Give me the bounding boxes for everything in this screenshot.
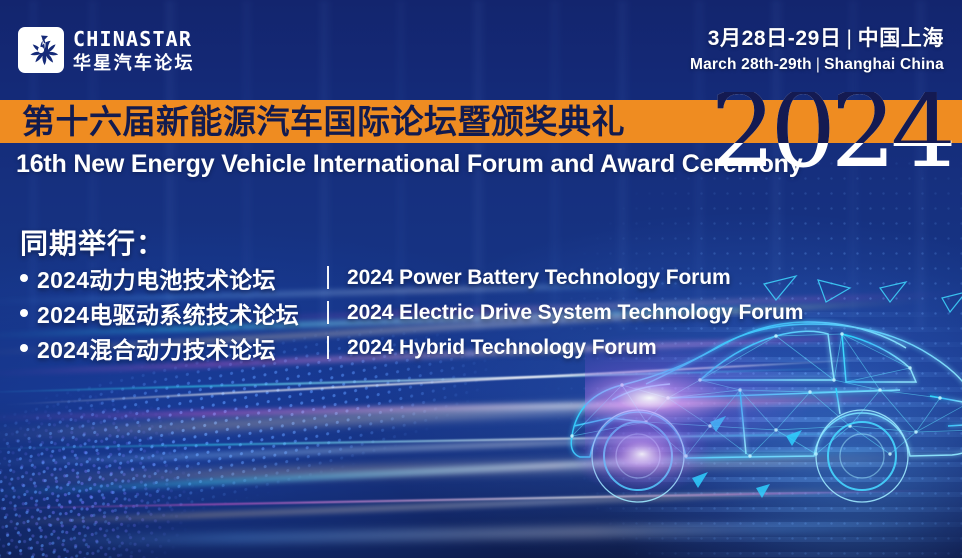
speed-streak bbox=[0, 429, 859, 467]
star-burst-logo-icon bbox=[18, 27, 64, 73]
date-separator-cn: | bbox=[842, 27, 858, 50]
bullet-icon bbox=[20, 344, 28, 352]
forum-title-cn: 2024电驱动系统技术论坛 bbox=[37, 296, 327, 330]
event-title-en: 16th New Energy Vehicle International Fo… bbox=[0, 150, 802, 179]
speed-streak bbox=[0, 445, 919, 497]
divider bbox=[327, 301, 329, 324]
speed-streak bbox=[0, 367, 860, 394]
banner-header: CHINASTAR 华星汽车论坛 3月28日-29日|中国上海 March 28… bbox=[0, 0, 962, 100]
forum-title-en: 2024 Power Battery Technology Forum bbox=[347, 266, 731, 290]
brand-logo[interactable]: CHINASTAR 华星汽车论坛 bbox=[18, 27, 195, 73]
date-en: March 28th-29th bbox=[690, 56, 812, 73]
list-item[interactable]: 2024动力电池技术论坛 2024 Power Battery Technolo… bbox=[20, 262, 803, 293]
forum-list: 2024动力电池技术论坛 2024 Power Battery Technolo… bbox=[20, 262, 803, 367]
concurrent-events-heading: 同期举行： bbox=[20, 222, 165, 262]
divider bbox=[327, 336, 329, 359]
forum-title-en: 2024 Hybrid Technology Forum bbox=[347, 336, 657, 360]
speed-streak bbox=[0, 395, 940, 421]
speed-streak bbox=[0, 489, 950, 510]
list-item[interactable]: 2024电驱动系统技术论坛 2024 Electric Drive System… bbox=[20, 297, 803, 328]
location-en: Shanghai China bbox=[824, 56, 944, 73]
forum-title-en: 2024 Electric Drive System Technology Fo… bbox=[347, 301, 803, 325]
event-title-cn: 第十六届新能源汽车国际论坛暨颁奖典礼 bbox=[0, 100, 625, 143]
bullet-icon bbox=[20, 309, 28, 317]
forum-title-cn: 2024动力电池技术论坛 bbox=[37, 261, 327, 295]
event-date-location: 3月28日-29日|中国上海 March 28th-29th|Shanghai … bbox=[690, 28, 948, 73]
location-cn: 中国上海 bbox=[858, 27, 944, 50]
title-orange-band: 第十六届新能源汽车国际论坛暨颁奖典礼 bbox=[0, 100, 962, 143]
date-separator-en: | bbox=[812, 56, 824, 73]
speed-streak bbox=[0, 432, 910, 450]
forum-title-cn: 2024混合动力技术论坛 bbox=[37, 331, 327, 365]
speed-streak bbox=[0, 452, 960, 485]
bullet-icon bbox=[20, 274, 28, 282]
speed-streak bbox=[0, 486, 899, 527]
title-english-row: 16th New Energy Vehicle International Fo… bbox=[0, 143, 962, 185]
date-cn: 3月28日-29日 bbox=[708, 27, 842, 50]
brand-name-en: CHINASTAR bbox=[73, 29, 195, 49]
speed-streak bbox=[0, 388, 919, 441]
divider bbox=[327, 266, 329, 289]
event-banner: CHINASTAR 华星汽车论坛 3月28日-29日|中国上海 March 28… bbox=[0, 0, 962, 558]
speed-streak bbox=[0, 521, 960, 547]
brand-name-cn: 华星汽车论坛 bbox=[73, 54, 195, 72]
list-item[interactable]: 2024混合动力技术论坛 2024 Hybrid Technology Foru… bbox=[20, 332, 803, 363]
